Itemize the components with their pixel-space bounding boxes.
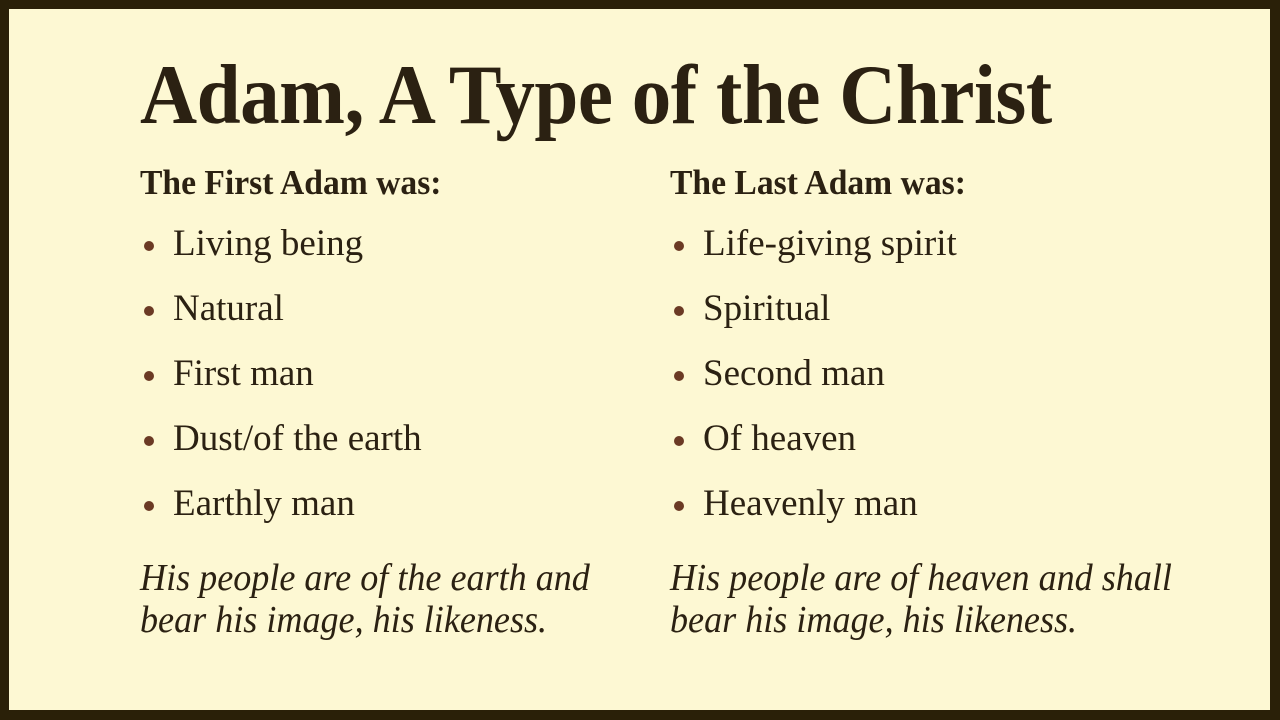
footnote-last-adam: His people are of heaven and shall bear … (670, 557, 1174, 641)
bullet-dot-icon (144, 501, 154, 511)
list-item: Natural (140, 283, 661, 348)
bullet-dot-icon (144, 241, 154, 251)
list-item: Earthly man (140, 478, 661, 543)
list-item-label: Second man (703, 353, 885, 394)
list-item: Spiritual (670, 283, 1191, 348)
bullet-dot-icon (674, 306, 684, 316)
footnote-first-adam: His people are of the earth and bear his… (140, 557, 615, 641)
list-item-label: Of heaven (703, 418, 856, 459)
list-item: Second man (670, 348, 1191, 413)
list-item-label: Heavenly man (703, 483, 918, 524)
list-item: Of heaven (670, 413, 1191, 478)
list-item-label: Dust/of the earth (173, 418, 422, 459)
slide-frame: Adam, A Type of the Christ The First Ada… (0, 0, 1280, 720)
list-item: First man (140, 348, 661, 413)
bullet-dot-icon (674, 436, 684, 446)
list-item-label: Living being (173, 223, 363, 264)
list-item-label: First man (173, 353, 314, 394)
comparison-columns: The First Adam was: Living being Natural… (9, 161, 1270, 641)
bullet-list-last-adam: Life-giving spirit Spiritual Second man … (670, 218, 1191, 543)
list-item-label: Life-giving spirit (703, 223, 957, 264)
bullet-dot-icon (674, 371, 684, 381)
list-item: Life-giving spirit (670, 218, 1191, 283)
list-item: Heavenly man (670, 478, 1191, 543)
bullet-dot-icon (144, 371, 154, 381)
bullet-dot-icon (144, 436, 154, 446)
bullet-dot-icon (674, 501, 684, 511)
page-title: Adam, A Type of the Christ (140, 53, 1079, 138)
bullet-list-first-adam: Living being Natural First man Dust/of t… (140, 218, 661, 543)
column-heading-first-adam: The First Adam was: (140, 161, 640, 205)
list-item: Dust/of the earth (140, 413, 661, 478)
bullet-dot-icon (674, 241, 684, 251)
list-item-label: Earthly man (173, 483, 355, 524)
column-heading-last-adam: The Last Adam was: (670, 161, 1170, 205)
slide-canvas: Adam, A Type of the Christ The First Ada… (9, 9, 1270, 710)
list-item: Living being (140, 218, 661, 283)
list-item-label: Spiritual (703, 288, 830, 329)
column-last-adam: The Last Adam was: Life-giving spirit Sp… (670, 161, 1191, 641)
list-item-label: Natural (173, 288, 284, 329)
bullet-dot-icon (144, 306, 154, 316)
column-first-adam: The First Adam was: Living being Natural… (140, 161, 661, 641)
